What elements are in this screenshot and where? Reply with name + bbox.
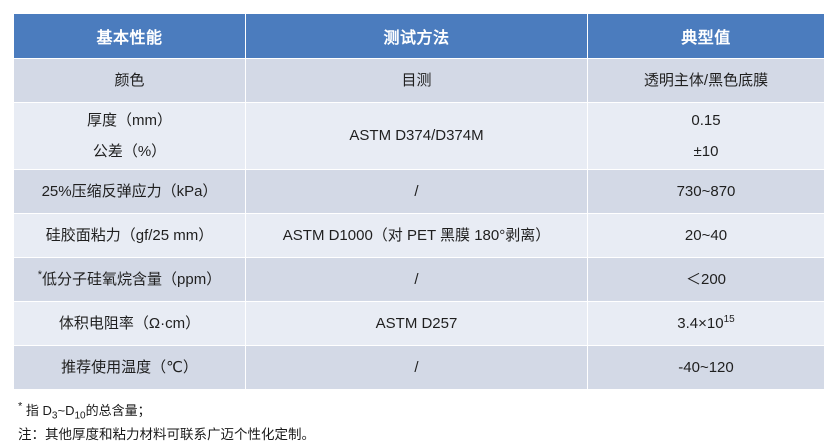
- specification-table: 基本性能 测试方法 典型值 颜色 目测 透明主体/黑色底膜 厚度（mm） 公差（…: [13, 13, 825, 390]
- cell-value: ＜200: [588, 258, 824, 301]
- cell-property: 颜色: [14, 59, 245, 102]
- table-row: 硅胶面粘力（gf/25 mm） ASTM D1000（对 PET 黑膜 180°…: [14, 214, 824, 257]
- footnote-text-b: ~D: [57, 403, 74, 418]
- cell-property: 厚度（mm） 公差（%）: [14, 103, 245, 169]
- cell-property-line-1: 厚度（mm）: [20, 110, 239, 132]
- asterisk-icon: *: [18, 401, 22, 413]
- column-header-property: 基本性能: [14, 14, 245, 58]
- cell-value-line-2: ±10: [594, 141, 818, 163]
- cell-method: /: [246, 258, 587, 301]
- cell-property: 推荐使用温度（℃）: [14, 346, 245, 389]
- cell-property: 体积电阻率（Ω·cm）: [14, 302, 245, 345]
- cell-method: ASTM D374/D374M: [246, 103, 587, 169]
- table-row: 25%压缩反弹应力（kPa） / 730~870: [14, 170, 824, 213]
- column-header-typical-value: 典型值: [588, 14, 824, 58]
- cell-value: 3.4×1015: [588, 302, 824, 345]
- table-footnotes: * 指 D3~D10的总含量； 注：其他厚度和粘力材料可联系广迈个性化定制。: [13, 399, 822, 448]
- spec-table-page: 基本性能 测试方法 典型值 颜色 目测 透明主体/黑色底膜 厚度（mm） 公差（…: [0, 0, 834, 444]
- table-row: 厚度（mm） 公差（%） ASTM D374/D374M 0.15 ±10: [14, 103, 824, 169]
- cell-value-exponent: 15: [724, 314, 735, 325]
- cell-value: -40~120: [588, 346, 824, 389]
- cell-property-line-2: 公差（%）: [20, 141, 239, 163]
- cell-value: 透明主体/黑色底膜: [588, 59, 824, 102]
- cell-method: ASTM D1000（对 PET 黑膜 180°剥离）: [246, 214, 587, 257]
- cell-value: 0.15 ±10: [588, 103, 824, 169]
- table-header: 基本性能 测试方法 典型值: [14, 14, 824, 58]
- footnote-text-c: 的总含量；: [86, 403, 151, 418]
- cell-property: 硅胶面粘力（gf/25 mm）: [14, 214, 245, 257]
- footnote-subscript-b: 10: [74, 411, 85, 422]
- table-row: 推荐使用温度（℃） / -40~120: [14, 346, 824, 389]
- cell-method: 目测: [246, 59, 587, 102]
- cell-method: /: [246, 346, 587, 389]
- table-row: 颜色 目测 透明主体/黑色底膜: [14, 59, 824, 102]
- cell-property: *低分子硅氧烷含量（ppm）: [14, 258, 245, 301]
- header-row: 基本性能 测试方法 典型值: [14, 14, 824, 58]
- cell-value: 20~40: [588, 214, 824, 257]
- cell-value-line-1: 0.15: [594, 110, 818, 132]
- table-row: *低分子硅氧烷含量（ppm） / ＜200: [14, 258, 824, 301]
- cell-method: ASTM D257: [246, 302, 587, 345]
- cell-value: 730~870: [588, 170, 824, 213]
- footnote-text-a: 指 D: [26, 403, 52, 418]
- cell-property-text: 低分子硅氧烷含量（ppm）: [42, 271, 221, 288]
- cell-property: 25%压缩反弹应力（kPa）: [14, 170, 245, 213]
- table-body: 颜色 目测 透明主体/黑色底膜 厚度（mm） 公差（%） ASTM D374/D…: [14, 59, 824, 389]
- cell-value-base: 3.4×10: [677, 315, 723, 332]
- table-row: 体积电阻率（Ω·cm） ASTM D257 3.4×1015: [14, 302, 824, 345]
- footnote-asterisk-line: * 指 D3~D10的总含量；: [18, 399, 822, 423]
- column-header-test-method: 测试方法: [246, 14, 587, 58]
- cell-method: /: [246, 170, 587, 213]
- note-line: 注：其他厚度和粘力材料可联系广迈个性化定制。: [18, 423, 822, 448]
